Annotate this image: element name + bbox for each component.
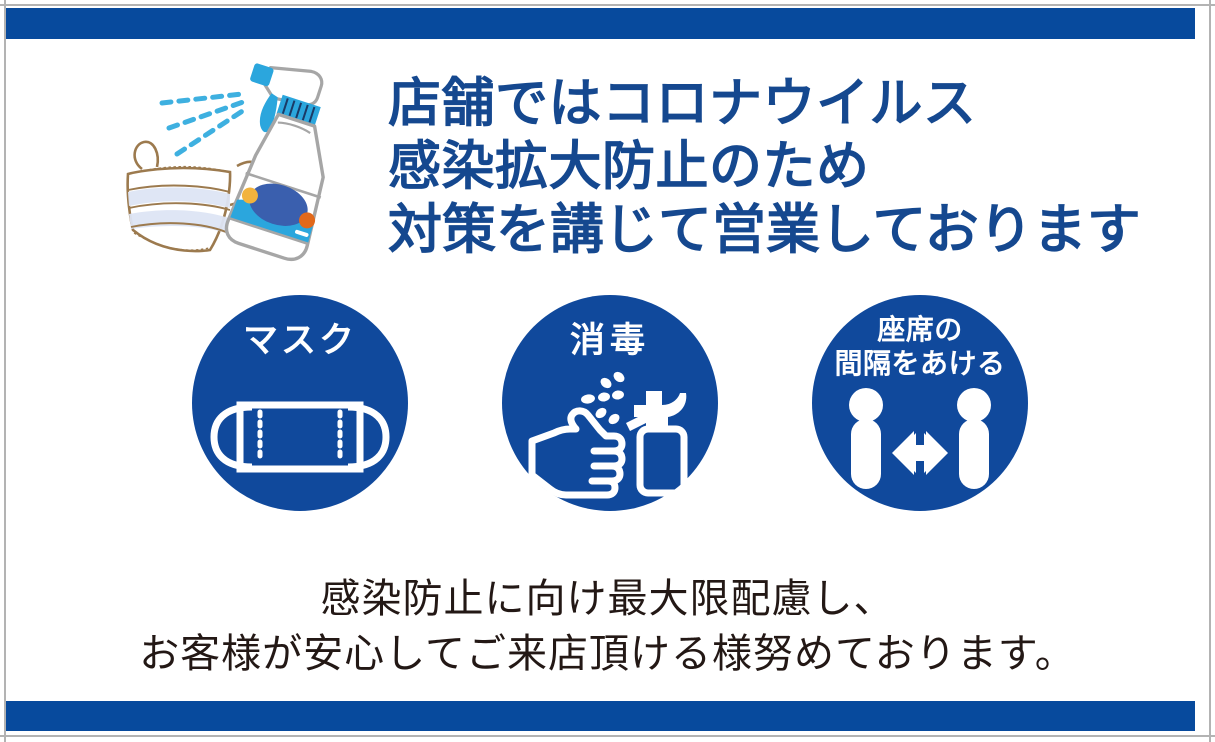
headline-line-3: 対策を講じて営業しております — [388, 198, 1148, 261]
spray-bottle-illustration — [201, 62, 359, 264]
frame-border-top — [0, 4, 1215, 6]
badge-distance: 座席の 間隔をあける — [812, 295, 1028, 511]
hand-sanitizer-spray-icon — [502, 295, 718, 511]
badge-mask: マスク — [192, 295, 408, 511]
badge-sanitize: 消毒 — [502, 295, 718, 511]
social-distance-arrow-icon — [812, 295, 1028, 511]
covid-safety-poster: 店舗ではコロナウイルス 感染拡大防止のため 対策を講じて営業しております マスク… — [0, 0, 1215, 742]
headline-line-2: 感染拡大防止のため — [388, 135, 1148, 198]
spray-mist-icon — [162, 94, 244, 154]
mask-and-spray-bottle-illustration — [112, 62, 392, 282]
headline: 店舗ではコロナウイルス 感染拡大防止のため 対策を講じて営業しております — [388, 72, 1148, 261]
frame-border-bottom — [0, 735, 1215, 737]
headline-line-1: 店舗ではコロナウイルス — [388, 72, 1148, 135]
header-blue-bar — [6, 8, 1195, 39]
footer-blue-bar — [6, 701, 1195, 731]
surgical-mask-icon — [192, 295, 408, 511]
bottom-message-line-1: 感染防止に向け最大限配慮し、 — [0, 572, 1215, 627]
bottom-message-line-2: お客様が安心してご来店頂ける様努めております。 — [0, 627, 1215, 682]
bottom-message: 感染防止に向け最大限配慮し、 お客様が安心してご来店頂ける様努めております。 — [0, 572, 1215, 682]
